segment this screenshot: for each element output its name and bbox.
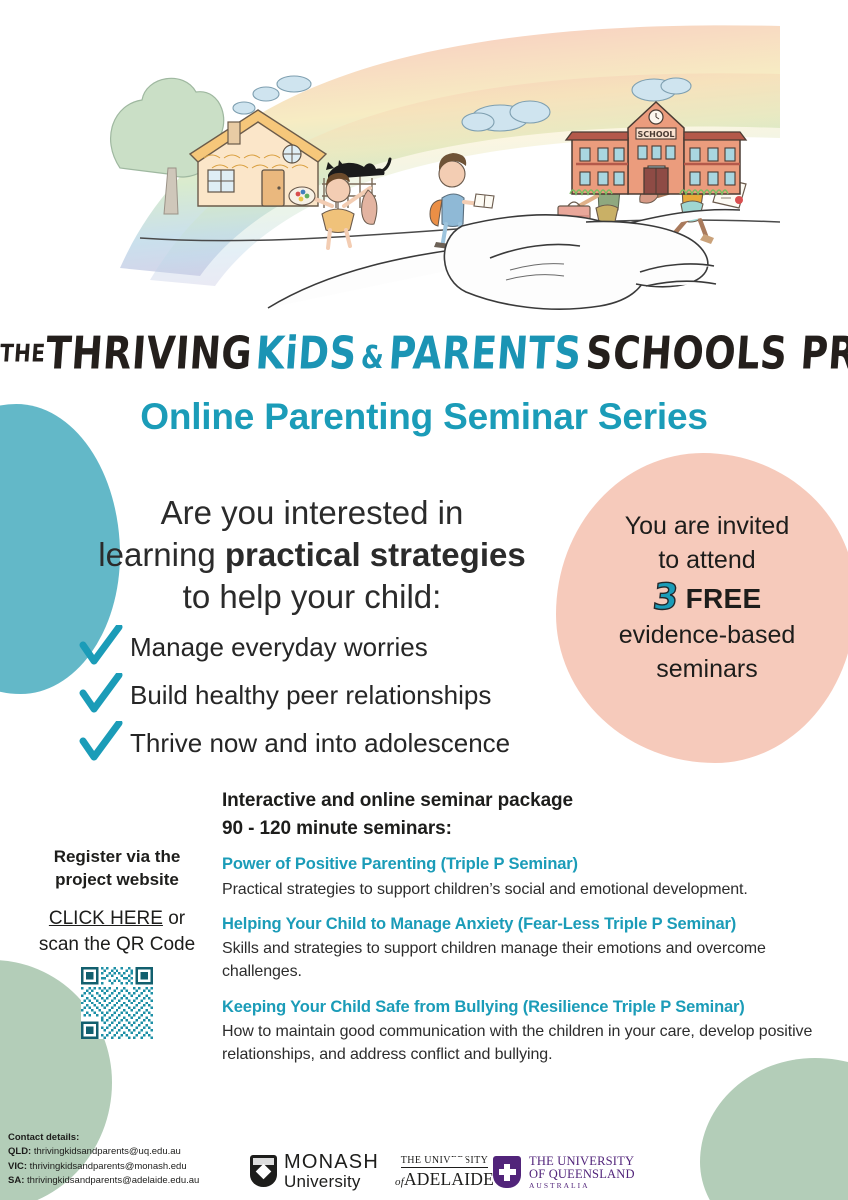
click-here-link[interactable]: CLICK HERE [49, 908, 163, 929]
headline-line-1: Are you interested in [161, 494, 464, 531]
check-icon [78, 721, 124, 765]
title-kids: KiDS [254, 327, 358, 379]
package-line-2: 90 - 120 minute seminars: [222, 815, 822, 843]
click-here-suffix: or [163, 908, 185, 929]
invite-line-2: to attend [568, 544, 846, 578]
contact-row: SA: thrivingkidsandparents@adelaide.edu.… [8, 1174, 199, 1188]
subtitle: Online Parenting Seminar Series [0, 396, 848, 438]
adelaide-logo-line-1: THE UNIVERSITY [401, 1155, 489, 1168]
list-item: Manage everyday worries [78, 628, 598, 666]
free-label: FREE [686, 580, 762, 618]
contact-email-sa[interactable]: thrivingkidsandparents@adelaide.edu.au [27, 1175, 199, 1186]
title-thriving: THRIVING [44, 327, 254, 379]
poster: SCHOOL [0, 0, 848, 1200]
seminar-description: How to maintain good communication with … [222, 1020, 822, 1066]
headline-line-2-pre: learning [98, 536, 225, 573]
package-heading: Interactive and online seminar package 9… [222, 787, 822, 842]
register-block: Register via the project website CLICK H… [22, 846, 212, 1039]
register-line-2: project website [22, 869, 212, 892]
invite-line-1: You are invited [568, 510, 846, 544]
seminar-title: Power of Positive Parenting (Triple P Se… [222, 854, 822, 875]
list-item: Build healthy peer relationships [78, 676, 598, 714]
register-line-1: Register via the [22, 846, 212, 869]
contact-heading: Contact details: [8, 1131, 199, 1145]
headline-line-3: to help your child: [183, 578, 442, 615]
uq-logo-line-3: AUSTRALIA [529, 1182, 635, 1190]
title-ampersand: & [360, 340, 386, 377]
seminar-item: Power of Positive Parenting (Triple P Se… [222, 854, 822, 901]
monash-logo-line-2: University [284, 1173, 379, 1190]
project-title: THETHRIVING KiDS & PARENTS SCHOOLS PROJE… [0, 332, 848, 375]
list-item: Thrive now and into adolescence [78, 724, 598, 762]
seminar-count: 3 [651, 580, 680, 616]
invitation-block: You are invited to attend 3 FREE evidenc… [568, 510, 846, 687]
register-click-line: CLICK HERE or [22, 906, 212, 932]
seminar-item: Keeping Your Child Safe from Bullying (R… [222, 997, 822, 1067]
uq-logo-line-2: OF QUEENSLAND [529, 1168, 635, 1181]
seminar-title: Keeping Your Child Safe from Bullying (R… [222, 997, 822, 1018]
contact-row: QLD: thrivingkidsandparents@uq.edu.au [8, 1145, 199, 1159]
headline-line-2-bold: practical strategies [225, 536, 526, 573]
monash-university-logo: MONASH University [250, 1152, 379, 1190]
scan-qr-label: scan the QR Code [22, 932, 212, 958]
contact-label-sa: SA: [8, 1175, 24, 1186]
title-the: THE [0, 338, 47, 367]
header-illustration: SCHOOL [80, 18, 780, 318]
monash-crest-icon [250, 1155, 277, 1187]
list-item-label: Thrive now and into adolescence [130, 730, 510, 756]
invite-line-4: seminars [568, 653, 846, 687]
uq-logo: THE UNIVERSITY OF QUEENSLAND AUSTRALIA [493, 1155, 635, 1190]
contact-label-qld: QLD: [8, 1146, 31, 1157]
seminar-description: Practical strategies to support children… [222, 878, 822, 901]
seminar-item: Helping Your Child to Manage Anxiety (Fe… [222, 914, 822, 984]
contact-label-vic: VIC: [8, 1161, 27, 1172]
qr-code[interactable] [81, 967, 153, 1039]
headline-block: Are you interested in learning practical… [72, 492, 552, 618]
package-line-1: Interactive and online seminar package [222, 787, 822, 815]
contact-row: VIC: thrivingkidsandparents@monash.edu [8, 1160, 199, 1174]
title-parents: PARENTS [387, 327, 583, 379]
seminar-description: Skills and strategies to support childre… [222, 937, 822, 983]
title-schools-project: SCHOOLS PROJECT [584, 327, 848, 379]
list-item-label: Manage everyday worries [130, 634, 428, 660]
check-icon [78, 625, 124, 669]
uq-crest-icon [493, 1156, 521, 1188]
benefits-list: Manage everyday worries Build healthy pe… [78, 628, 598, 772]
adelaide-university-logo: THE UNIVERSITY ofADELAIDE [395, 1150, 494, 1190]
contact-email-vic[interactable]: thrivingkidsandparents@monash.edu [30, 1161, 187, 1172]
contact-details: Contact details: QLD: thrivingkidsandpar… [8, 1131, 199, 1188]
school-sign-text: SCHOOL [637, 130, 674, 139]
seminar-details: Interactive and online seminar package 9… [222, 787, 822, 1079]
list-item-label: Build healthy peer relationships [130, 682, 491, 708]
university-logos: MONASH University THE UNIVERSITY ofADELA… [245, 1126, 665, 1196]
seminar-title: Helping Your Child to Manage Anxiety (Fe… [222, 914, 822, 935]
contact-email-qld[interactable]: thrivingkidsandparents@uq.edu.au [34, 1146, 181, 1157]
check-icon [78, 673, 124, 717]
adelaide-logo-line-2: ADELAIDE [404, 1169, 494, 1189]
uq-logo-text: THE UNIVERSITY OF QUEENSLAND AUSTRALIA [529, 1155, 635, 1190]
adelaide-logo-of: of [395, 1176, 404, 1188]
adelaide-logo-line-2-wrap: ofADELAIDE [395, 1169, 494, 1190]
monash-logo-text: MONASH University [284, 1152, 379, 1190]
invite-free-line: 3 FREE [568, 580, 846, 618]
invite-line-3: evidence-based [568, 619, 846, 653]
monash-logo-line-1: MONASH [284, 1152, 379, 1172]
